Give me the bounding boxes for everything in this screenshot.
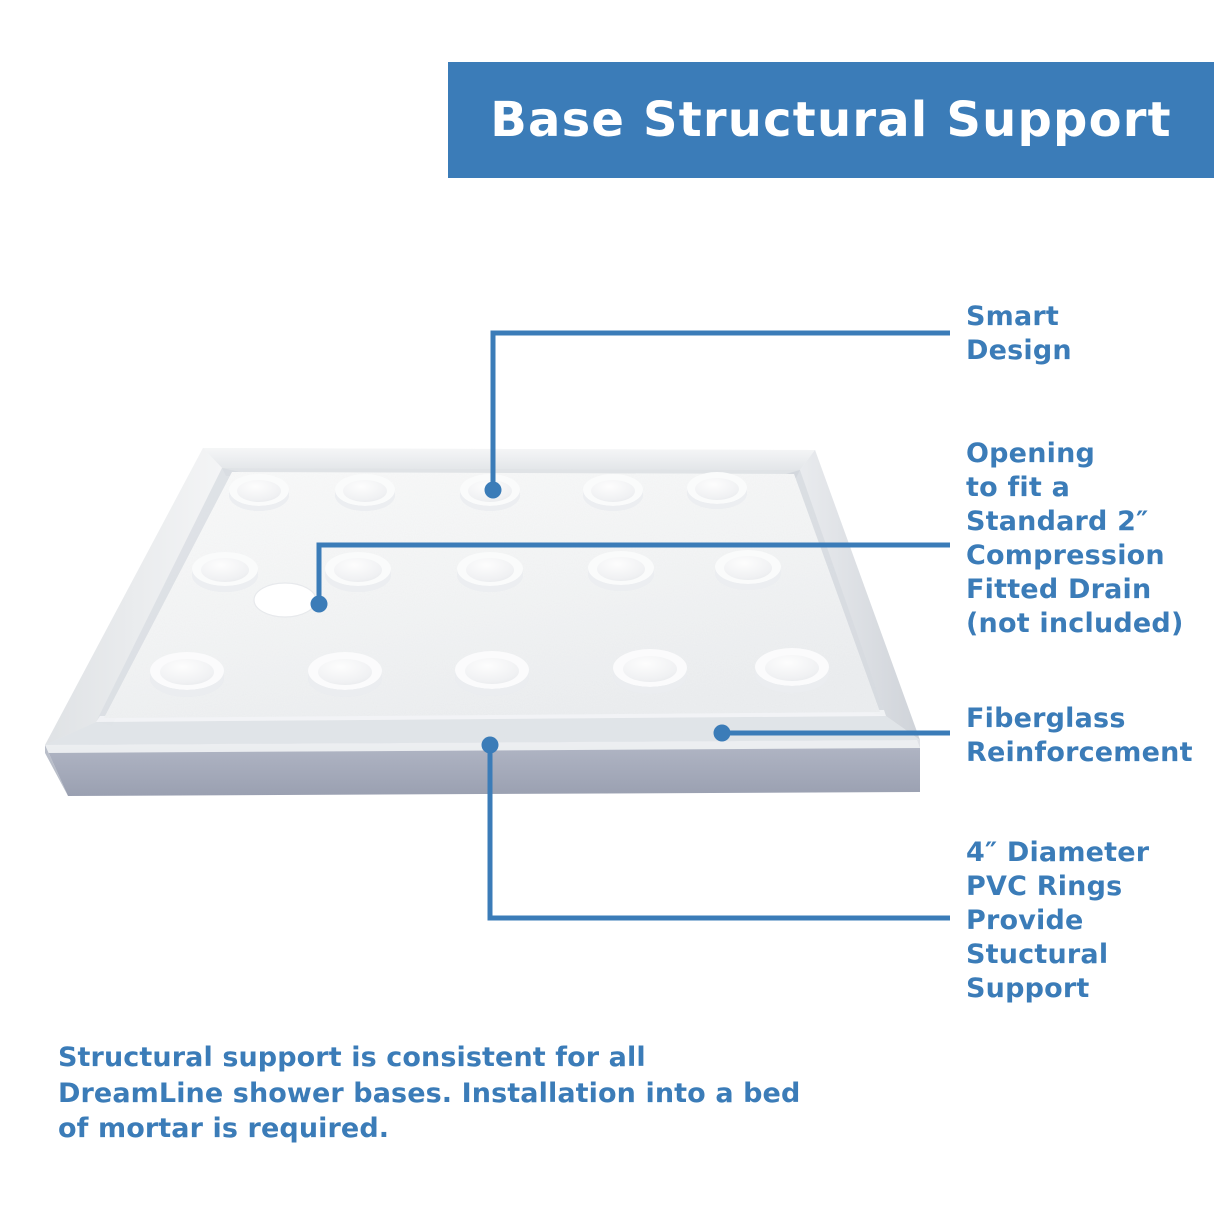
page-title: Base Structural Support — [490, 96, 1172, 144]
header-banner: Base Structural Support — [448, 62, 1214, 178]
footer-note: Structural support is consistent for all… — [58, 1040, 818, 1147]
anchor-dot-drain-opening — [311, 596, 328, 613]
pvc-ring — [192, 552, 258, 592]
pvc-ring — [150, 652, 224, 697]
callout-label-fiberglass: Fiberglass Reinforcement — [966, 702, 1193, 770]
pvc-ring — [455, 651, 529, 696]
pvc-ring — [457, 552, 523, 592]
pvc-ring — [335, 474, 395, 511]
callout-label-drain-opening: Opening to fit a Standard 2″ Compression… — [966, 437, 1183, 641]
pvc-ring — [588, 551, 654, 591]
pvc-ring — [687, 472, 747, 509]
pvc-ring — [325, 552, 391, 592]
pvc-ring — [308, 652, 382, 697]
anchor-dot-fiberglass — [714, 725, 731, 742]
pvc-ring — [715, 550, 781, 590]
anchor-dot-pvc-rings — [482, 737, 499, 754]
illustration-page: Base Structural Support Smart Design Ope… — [0, 0, 1214, 1214]
callout-label-smart-design: Smart Design — [966, 300, 1072, 368]
drain-hole — [254, 583, 316, 617]
pvc-ring — [613, 649, 687, 694]
anchor-dot-smart-design — [485, 482, 502, 499]
callout-label-pvc-rings: 4″ Diameter PVC Rings Provide Stuctural … — [966, 836, 1149, 1006]
pvc-ring — [755, 648, 829, 693]
pvc-ring — [229, 474, 289, 511]
pvc-ring — [583, 474, 643, 511]
